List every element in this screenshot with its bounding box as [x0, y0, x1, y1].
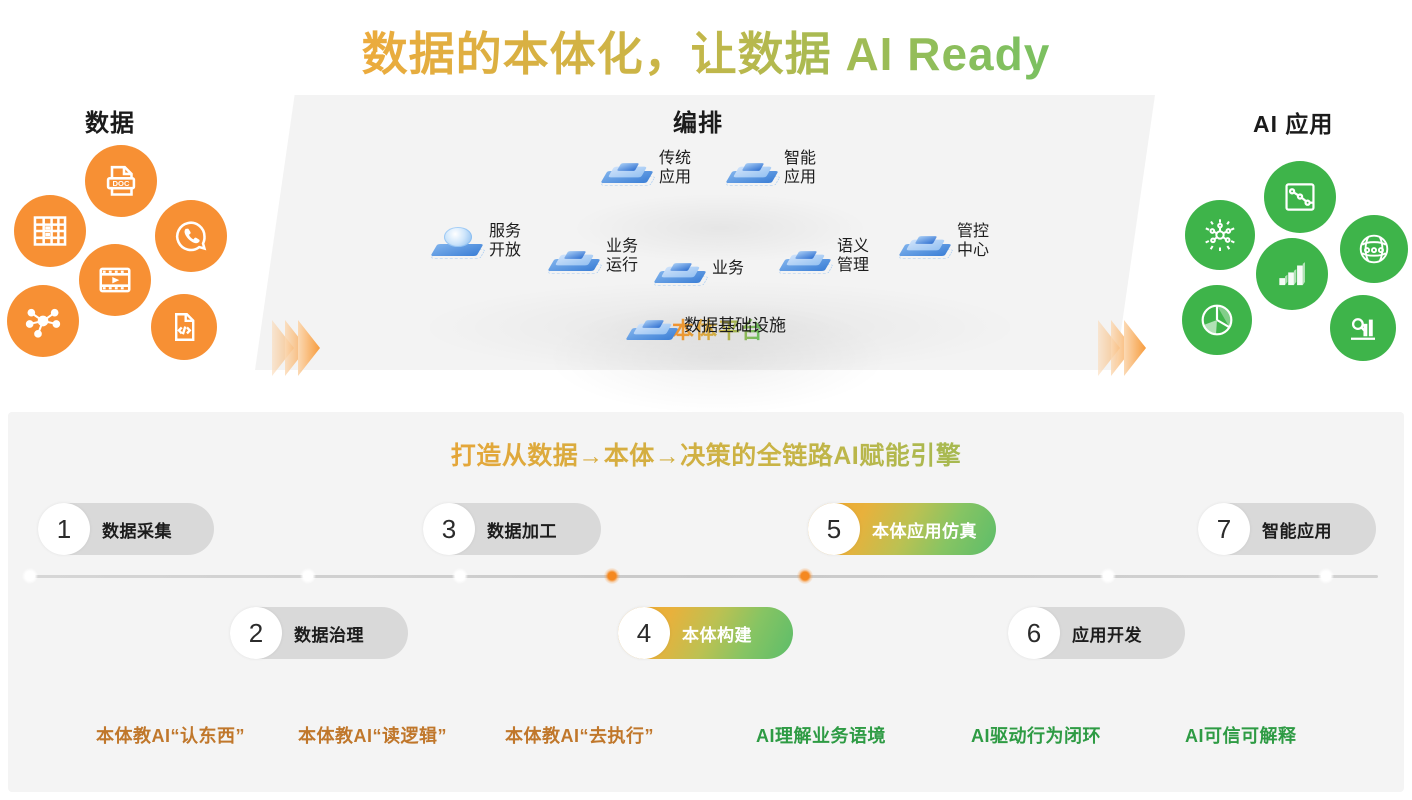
pie-chart-icon	[1182, 285, 1252, 355]
slide-canvas: 数据的本体化，让数据 AI Ready 数据 编排 AI 应用	[0, 0, 1412, 800]
node-label-line2: 中心	[957, 241, 989, 260]
caption-recognize: 本体教AI“认东西”	[96, 722, 245, 748]
node-label-line1: 传统	[659, 149, 691, 168]
business-run-icon	[549, 234, 603, 278]
node-label-line2: 应用	[659, 168, 691, 187]
step-label: 数据加工	[487, 517, 557, 542]
section-heading-ai-apps: AI 应用	[1253, 105, 1333, 139]
node-label-line1: 业务	[712, 259, 744, 278]
idea-burst-icon	[1185, 200, 1255, 270]
semantic-mgmt-icon	[780, 234, 834, 278]
step-number: 1	[38, 503, 90, 555]
roadmap-step-3[interactable]: 3 数据加工	[423, 503, 601, 555]
roadmap-step-1[interactable]: 1 数据采集	[38, 503, 214, 555]
line-chart-icon	[1264, 161, 1336, 233]
node-label-line2: 开放	[489, 241, 521, 260]
neural-net-icon	[1340, 215, 1408, 283]
step-label: 数据治理	[294, 621, 364, 646]
timeline-tick	[452, 568, 468, 584]
section-heading-orchestration: 编排	[673, 103, 723, 138]
chart-search-icon	[1330, 295, 1396, 361]
phone-call-icon	[155, 200, 227, 272]
step-label: 智能应用	[1262, 517, 1332, 542]
roadmap-step-4[interactable]: 4 本体构建	[618, 607, 793, 659]
node-semantic-mgmt: 语义 管理	[780, 234, 869, 278]
section-heading-data: 数据	[85, 103, 135, 138]
timeline-tick	[22, 568, 38, 584]
roadmap-panel: 打造从数据→本体→决策的全链路AI赋能引擎 1 数据采集 3 数据加工 5 本体…	[8, 412, 1404, 792]
timeline-tick	[1318, 568, 1334, 584]
node-label-line2: 管理	[837, 256, 869, 275]
node-label-line1: 管控	[957, 222, 989, 241]
step-number: 2	[230, 607, 282, 659]
node-label-line1: 服务	[489, 222, 521, 241]
caption-logic: 本体教AI“读逻辑”	[298, 722, 447, 748]
roadmap-step-6[interactable]: 6 应用开发	[1008, 607, 1185, 659]
bar-chart-3d-icon	[1256, 238, 1328, 310]
timeline-tick	[300, 568, 316, 584]
video-film-icon	[79, 244, 151, 316]
roadmap-subtitle: 打造从数据→本体→决策的全链路AI赋能引擎	[8, 436, 1404, 472]
network-nodes-icon	[7, 285, 79, 357]
node-business: 业务	[655, 246, 744, 290]
timeline-rail	[30, 575, 1378, 578]
roadmap-step-7[interactable]: 7 智能应用	[1198, 503, 1376, 555]
caption-explainable: AI可信可解释	[1185, 722, 1297, 748]
roadmap-captions: 本体教AI“认东西” 本体教AI“读逻辑” 本体教AI“去执行” AI理解业务语…	[8, 722, 1404, 752]
node-service-open: 服务 开放	[432, 219, 521, 263]
node-legacy-app: 传统 应用	[602, 146, 691, 190]
code-file-icon	[151, 294, 217, 360]
step-number: 6	[1008, 607, 1060, 659]
node-business-run: 业务 运行	[549, 234, 638, 278]
legacy-app-icon	[602, 146, 656, 190]
step-number: 4	[618, 607, 670, 659]
step-number: 7	[1198, 503, 1250, 555]
timeline-tick	[1100, 568, 1116, 584]
step-label: 本体构建	[682, 621, 752, 646]
pipeline-band: 数据 编排 AI 应用	[0, 95, 1412, 385]
roadmap-step-5[interactable]: 5 本体应用仿真	[808, 503, 996, 555]
step-number: 3	[423, 503, 475, 555]
business-icon	[655, 246, 709, 290]
caption-execute: 本体教AI“去执行”	[505, 722, 654, 748]
node-label-line2: 应用	[784, 168, 816, 187]
step-label: 数据采集	[102, 517, 172, 542]
control-center-icon	[900, 219, 954, 263]
node-label-line2: 运行	[606, 256, 638, 275]
flow-arrow-right-icon	[1098, 320, 1150, 376]
node-label-line1: 数据基础设施	[684, 316, 786, 335]
timeline-tick-active	[797, 568, 813, 584]
roadmap-step-2[interactable]: 2 数据治理	[230, 607, 408, 659]
node-control-center: 管控 中心	[900, 219, 989, 263]
doc-file-icon: DOC	[85, 145, 157, 217]
page-title: 数据的本体化，让数据 AI Ready	[0, 18, 1412, 84]
step-label: 本体应用仿真	[872, 517, 977, 542]
node-label-line1: 业务	[606, 237, 638, 256]
flow-arrow-left-icon	[272, 320, 324, 376]
step-number: 5	[808, 503, 860, 555]
node-label-line1: 语义	[837, 237, 869, 256]
service-open-icon	[432, 219, 486, 263]
node-smart-app: 智能 应用	[727, 146, 816, 190]
data-infra-icon	[627, 303, 681, 347]
spreadsheet-icon	[14, 195, 86, 267]
caption-closedloop: AI驱动行为闭环	[971, 722, 1101, 748]
timeline-tick-active	[604, 568, 620, 584]
svg-text:DOC: DOC	[113, 179, 130, 188]
node-label-line1: 智能	[784, 149, 816, 168]
step-label: 应用开发	[1072, 621, 1142, 646]
caption-context: AI理解业务语境	[756, 722, 886, 748]
smart-app-icon	[727, 146, 781, 190]
node-data-infrastructure: 数据基础设施	[627, 303, 786, 347]
